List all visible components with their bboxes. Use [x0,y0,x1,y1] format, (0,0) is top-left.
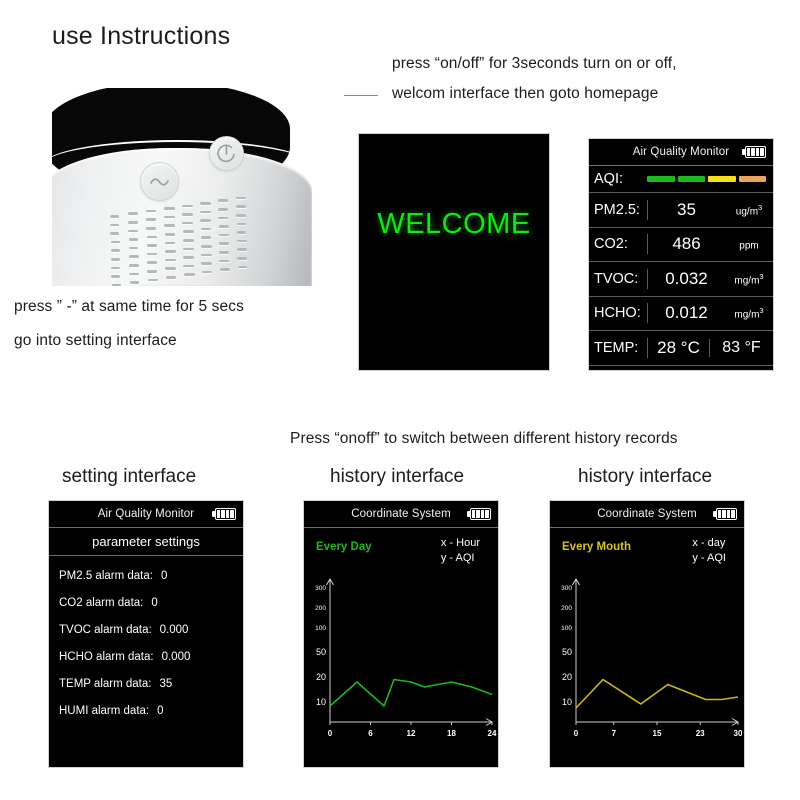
vent-slot [128,221,138,224]
setting-label: HUMI alarm data: [59,705,149,717]
main-screen-title: Air Quality Monitor [633,146,729,158]
vent-slot [183,256,194,259]
x-tick-label: 12 [407,729,416,738]
setting-subtitle: parameter settings [49,528,243,556]
row-value: 0.012 [647,303,725,323]
aqi-color-bar [647,176,766,182]
battery-full-icon [713,508,737,520]
history-2-axis-notes: x - day y - AQI [692,536,726,566]
vent-slot [218,217,228,220]
vent-slot [182,222,193,225]
x-tick-label: 24 [488,729,497,738]
vent-slot [182,213,193,216]
measurement-rows: PM2.5: 35 ug/m3 CO2: 486 ppm TVOC: 0.032… [589,193,773,371]
row-unit: mg/m3 [725,272,773,286]
vent-slot [237,257,247,260]
row-unit: mg/m3 [725,306,773,320]
y-tick-label: 100 [561,625,572,632]
measurement-row: HCHO: 0.012 mg/m3 [589,297,773,332]
vent-slot [110,215,119,218]
vent-slot [165,233,176,236]
vent-slot [219,234,229,237]
row-value: 0.032 [647,269,725,289]
battery-full-icon [467,508,491,520]
history-1-header: Coordinate System [304,501,498,528]
vent-slot [202,271,213,274]
vent-slot [238,266,248,269]
setting-label: TVOC alarm data: [59,624,152,636]
vent-slot [147,253,157,256]
row-value: 486 [647,234,725,254]
setting-value: 0.000 [160,624,189,636]
vent-slot [165,250,176,253]
battery-full-icon [212,508,236,520]
vent-slot [147,270,157,273]
vent-slot [165,242,176,245]
vent-slot [219,260,229,263]
y-tick-label: 10 [316,697,326,707]
temperature-row: TEMP: 28 °C 83 °F [589,331,773,366]
y-tick-label: 100 [315,625,326,632]
vent-slot [236,214,246,217]
history-screen-every-day: Coordinate System Every Day x - Hour y -… [303,500,499,768]
vent-slot [146,218,156,221]
x-tick-label: 0 [328,729,333,738]
x-tick-label: 30 [734,729,743,738]
setting-screen: Air Quality Monitor parameter settings P… [48,500,244,768]
x-tick-label: 23 [696,729,705,738]
vent-slot [110,224,119,227]
aqi-segment [739,176,767,182]
setting-row[interactable]: HUMI alarm data: 0 [59,705,243,717]
vent-slot [183,265,194,268]
temperature-fahrenheit: 83 °F [709,339,773,357]
y-tick-label: 20 [562,672,572,682]
vent-slot [147,244,157,247]
row-unit: ug/m3 [725,203,773,217]
section-title-history-2: history interface [578,466,712,488]
vent-slot [111,241,120,244]
setting-screen-title: Air Quality Monitor [98,508,194,520]
device-shadow [70,284,288,286]
y-tick-label: 300 [561,585,572,592]
row-value: 35 [647,200,725,220]
vent-slot [237,223,247,226]
vent-slot [236,205,246,208]
vent-slot [146,227,156,230]
vent-slot [129,238,139,241]
vent-slot [218,199,228,202]
setting-rows: PM2.5 alarm data: 0 CO2 alarm data: 0 TV… [49,556,243,717]
vent-slot [166,276,177,279]
page-title: use Instructions [52,22,230,51]
vent-slot [129,273,139,276]
welcome-screen: WELCOME [358,133,550,371]
vent-slot [164,216,175,219]
device-vent-grille [110,193,265,273]
history-2-header: Coordinate System [550,501,744,528]
vent-slot [165,259,176,262]
vent-slot [164,207,175,210]
vent-slot [129,264,139,267]
history-1-chart: 10205010020030006121824 [304,574,499,744]
row-label: CO2: [589,236,647,252]
instruction-setting-line-1: press ” -” at same time for 5 secs [14,298,244,316]
history-1-axis-notes: x - Hour y - AQI [441,536,480,566]
vent-slot [129,247,139,250]
vent-slot [219,225,229,228]
row-label: PM2.5: [589,202,647,218]
aqi-segment [647,176,675,182]
vent-slot [111,258,120,261]
instruction-power-line-2: welcom interface then goto homepage [392,85,658,103]
history-2-title: Coordinate System [597,508,697,520]
y-tick-label: 20 [316,672,326,682]
setting-row[interactable]: TVOC alarm data: 0.000 [59,624,243,636]
row-label: TEMP: [589,340,647,356]
y-tick-label: 50 [316,647,326,657]
device-photo [52,88,320,286]
vent-slot [128,212,138,215]
vent-slot [237,240,247,243]
x-tick-label: 15 [653,729,662,738]
vent-slot [201,236,212,239]
vent-slot [110,232,119,235]
vent-slot [220,268,230,271]
setting-value: 0.000 [162,651,191,663]
y-tick-label: 200 [315,605,326,612]
vent-slot [219,251,229,254]
vent-slot [201,262,212,265]
history-2-y-note: y - AQI [692,551,726,566]
instruction-power-line-1: press “on/off” for 3seconds turn on or o… [392,55,677,73]
history-1-y-note: y - AQI [441,551,480,566]
power-icon [210,137,243,170]
history-2-chart: 10205010020030007152330 [550,574,745,744]
vent-slot [165,267,176,270]
main-screen-header: Air Quality Monitor [589,139,773,166]
vent-slot [128,230,138,233]
y-tick-label: 10 [562,697,572,707]
aqi-segment [708,176,736,182]
x-tick-label: 6 [368,729,373,738]
row-label: HCHO: [589,305,647,321]
setting-row[interactable]: CO2 alarm data: 0 [59,597,243,609]
setting-row[interactable]: TEMP alarm data: 35 [59,678,243,690]
vent-slot [200,202,211,205]
vent-slot [183,248,194,251]
vent-slot [147,236,157,239]
chart-line [330,680,492,707]
section-title-history-1: history interface [330,466,464,488]
vent-slot [218,208,228,211]
history-2-x-note: x - day [692,536,726,551]
history-1-period: Every Day [316,541,372,553]
setting-value: 35 [159,678,172,690]
vent-slot [164,224,175,227]
vent-slot [200,219,211,222]
history-1-x-note: x - Hour [441,536,480,551]
vent-slot [129,255,139,258]
y-tick-label: 50 [562,647,572,657]
setting-value: 0 [161,570,167,582]
vent-slot [147,261,157,264]
humidity-row: HUMI: 57 %RH [589,366,773,372]
instruction-setting-line-2: go into setting interface [14,332,177,350]
vent-slot [182,205,193,208]
vent-slot [183,230,194,233]
chart-line [576,680,738,709]
row-unit: ppm [725,237,773,251]
vent-slot [111,249,120,252]
setting-row[interactable]: HCHO alarm data: 0.000 [59,651,243,663]
device-rim [52,140,312,192]
vent-slot [111,267,120,270]
vent-slot [148,279,158,282]
setting-screen-header: Air Quality Monitor [49,501,243,528]
vent-slot [184,273,195,276]
history-2-period: Every Mouth [562,541,631,553]
history-1-title: Coordinate System [351,508,451,520]
history-2-plot: 10205010020030007152330 [550,574,745,744]
y-tick-label: 200 [561,605,572,612]
device-power-button[interactable] [209,136,244,171]
setting-row[interactable]: PM2.5 alarm data: 0 [59,570,243,582]
temperature-celsius: 28 °C [647,338,709,358]
setting-label: CO2 alarm data: [59,597,143,609]
vent-slot [201,254,212,257]
vent-slot [183,239,194,242]
vent-slot [146,210,156,213]
row-label: TVOC: [589,271,647,287]
vent-slot [200,211,211,214]
vent-slot [201,245,212,248]
setting-value: 0 [151,597,157,609]
history-2-legend: Every Mouth x - day y - AQI [550,528,744,574]
measurement-row: PM2.5: 35 ug/m3 [589,193,773,228]
setting-label: HCHO alarm data: [59,651,154,663]
vent-slot [219,242,229,245]
aqi-row: AQI: [589,166,773,193]
measurement-row: TVOC: 0.032 mg/m3 [589,262,773,297]
battery-full-icon [742,146,766,158]
welcome-text: WELCOME [359,208,549,241]
vent-slot [237,248,247,251]
aqi-segment [678,176,706,182]
main-measurement-screen: Air Quality Monitor AQI: PM2.5: 35 ug/m3… [588,138,774,371]
x-tick-label: 0 [574,729,579,738]
history-1-plot: 10205010020030006121824 [304,574,499,744]
vent-slot [236,197,246,200]
history-screen-every-month: Coordinate System Every Mouth x - day y … [549,500,745,768]
vent-slot [237,231,247,234]
setting-label: PM2.5 alarm data: [59,570,153,582]
x-tick-label: 18 [447,729,456,738]
instruction-history-line: Press “onoff” to switch between differen… [290,430,678,448]
setting-label: TEMP alarm data: [59,678,151,690]
dash-connector [344,95,378,96]
vent-slot [201,228,212,231]
section-title-setting: setting interface [62,466,196,488]
vent-slot [111,275,120,278]
x-tick-label: 7 [612,729,617,738]
history-1-legend: Every Day x - Hour y - AQI [304,528,498,574]
measurement-row: CO2: 486 ppm [589,228,773,263]
setting-value: 0 [157,705,163,717]
y-tick-label: 300 [315,585,326,592]
aqi-label: AQI: [589,171,647,187]
